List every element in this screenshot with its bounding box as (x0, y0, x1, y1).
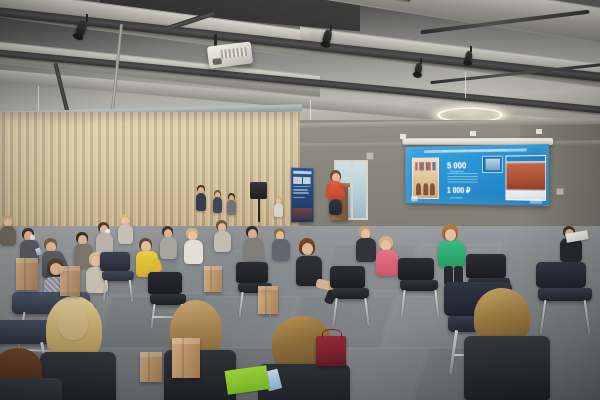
screen-bracket (400, 134, 406, 139)
poster-figure (416, 183, 421, 195)
article-header-bar (507, 156, 545, 162)
track-spotlight (464, 51, 473, 64)
slide-logo (411, 196, 418, 201)
handbag-handle (322, 329, 342, 339)
screen-bracket (470, 131, 476, 136)
paper-bag (258, 286, 278, 314)
wall-outlet (366, 152, 374, 160)
banner-photo-strip (293, 208, 312, 220)
banner-image (303, 177, 311, 184)
paper-bag (140, 352, 162, 382)
slide-second-number-caption: участникам (450, 196, 463, 200)
thumbnail-image (485, 159, 500, 171)
paper-bag (204, 266, 222, 292)
track-spotlight (414, 62, 423, 75)
projector-mount (214, 34, 217, 46)
poster-figure (423, 183, 428, 195)
slide-poster-image (412, 158, 439, 199)
door-mullion (351, 162, 353, 218)
slide-title: Конкурс мотиваций — номинации и призовой… (424, 148, 527, 153)
speaker-stand (258, 196, 260, 222)
paper-bag (16, 258, 38, 290)
poster-graphic (415, 162, 435, 171)
banner-text-line (294, 197, 305, 199)
banner-image (294, 176, 302, 183)
slide-secondary-logo (530, 198, 542, 203)
paper-bag (60, 266, 80, 296)
wall-outlet (556, 188, 564, 195)
banner-text-line (294, 189, 308, 191)
red-handbag (316, 336, 346, 366)
projection-screen: Конкурс мотиваций — номинации и призовой… (406, 144, 549, 206)
screen-bracket (536, 129, 542, 134)
slide-bullet-list (447, 173, 478, 182)
banner-text-line (294, 186, 311, 188)
projector (207, 41, 253, 68)
roll-up-banner (291, 168, 313, 223)
slide-video-thumbnail (482, 156, 503, 174)
paper-bag (172, 338, 200, 378)
pendant-wire (465, 72, 466, 98)
projector-lens-icon (212, 58, 222, 65)
slide-second-number: 1 000 ₽ (447, 186, 470, 195)
conference-room-photo: Конкурс мотиваций — номинации и призовой… (0, 0, 600, 400)
slide-article-screenshot (506, 155, 546, 202)
poster-figure (430, 183, 435, 195)
pa-speaker (250, 182, 267, 199)
banner-text-line (294, 192, 310, 194)
banner-heading (293, 170, 312, 174)
projector-vent (220, 47, 247, 59)
presenter-trousers (329, 199, 342, 215)
